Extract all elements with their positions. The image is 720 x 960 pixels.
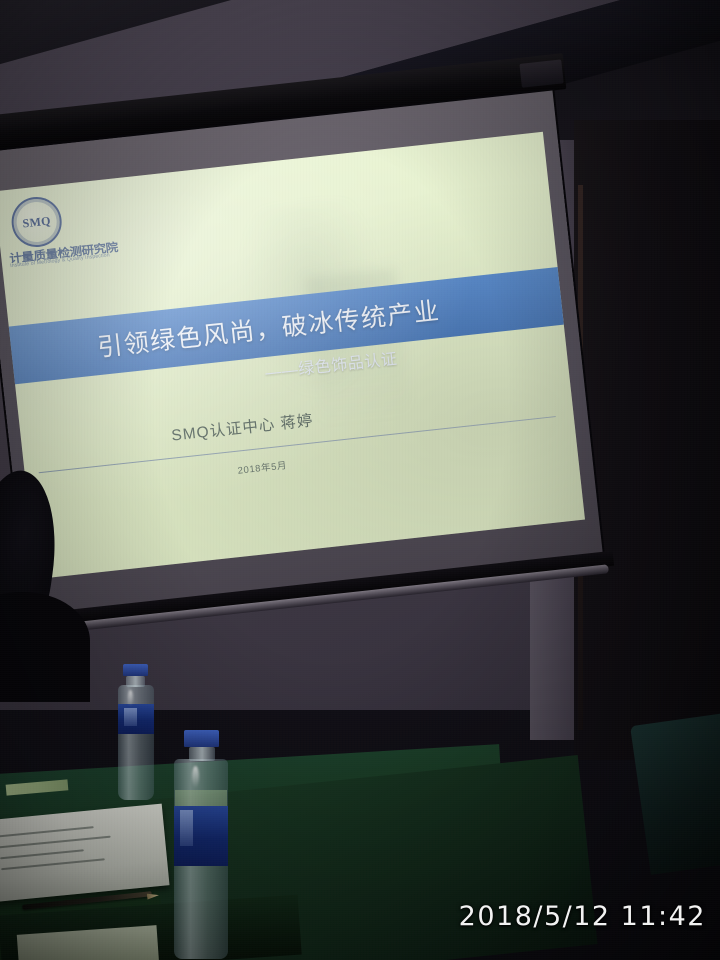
- smq-seal-icon: SMQ: [9, 194, 64, 249]
- notepad-line: [1, 858, 105, 870]
- bottle-label: [118, 704, 154, 734]
- bottle-cap: [123, 664, 148, 676]
- water-bottle-back: [112, 664, 158, 800]
- water-bottle-front: [170, 730, 232, 960]
- screen-housing-cap: [519, 59, 563, 87]
- bottle-neck: [126, 676, 145, 687]
- bottle-cap: [184, 730, 219, 747]
- bottle-label-stripe: [124, 708, 137, 726]
- bottle-label-stripe: [180, 810, 193, 846]
- bottle-body: [118, 685, 154, 800]
- conference-room-photo: SMQ 计量质量检测研究院 Institute of Metrology & Q…: [0, 0, 720, 960]
- notepad-line: [0, 826, 94, 837]
- notepad-line: [0, 849, 84, 859]
- camera-timestamp: 2018/5/12 11:42: [459, 901, 706, 932]
- smq-seal-text: SMQ: [22, 213, 52, 231]
- handwritten-notepad: [0, 804, 170, 903]
- organization-logo: SMQ 计量质量检测研究院 Institute of Metrology & Q…: [3, 188, 130, 275]
- projector-screen: SMQ 计量质量检测研究院 Institute of Metrology & Q…: [0, 53, 623, 675]
- projected-slide: SMQ 计量质量检测研究院 Institute of Metrology & Q…: [0, 132, 585, 579]
- notepad-line: [0, 836, 111, 848]
- screen-surface: SMQ 计量质量检测研究院 Institute of Metrology & Q…: [0, 91, 603, 617]
- slide-date: 2018年5月: [237, 457, 288, 476]
- bottle-highlight: [192, 766, 199, 788]
- bottle-neck: [189, 747, 215, 761]
- slide-presenter: SMQ认证中心 蒋婷: [170, 408, 314, 445]
- bottle-label: [174, 806, 228, 866]
- bottle-highlight: [128, 690, 133, 706]
